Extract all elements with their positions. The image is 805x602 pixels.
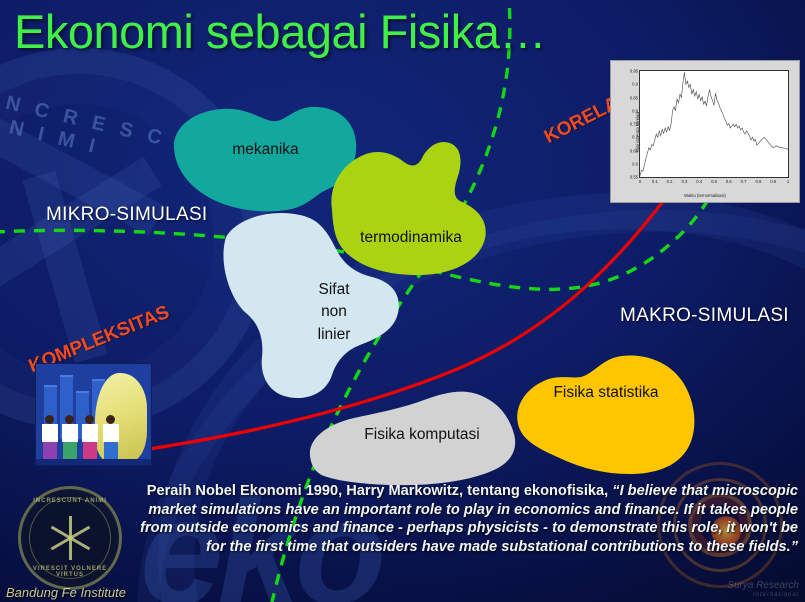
chart-y-tick: 0.95 — [630, 69, 638, 74]
label-mikro-simulasi: MIKRO-SIMULASI — [46, 204, 208, 226]
presentation-slide: INCRESCUNT ANIMI eko Ekonomi sebagai Fis… — [0, 0, 805, 602]
watermark-line2: International — [727, 592, 799, 598]
chart-y-tick: 0.8 — [632, 108, 638, 113]
watermark-line1: Surya Research — [727, 581, 799, 592]
chart-x-tick: 0.8 — [755, 179, 761, 184]
seal-text-bottom: VIRESCIT VOLNERE VIRTUS — [21, 566, 119, 578]
chart-y-tick: 0.7 — [632, 135, 638, 140]
person-figure — [61, 415, 78, 459]
person-figure — [81, 415, 98, 459]
snowflake-icon — [48, 516, 92, 560]
correlation-chart: Nilai rata-rata korelasi 0.550.60.650.70… — [610, 60, 800, 203]
chart-y-tick: 0.9 — [632, 82, 638, 87]
chart-x-tick: 1 — [787, 179, 789, 184]
quote-intro: Peraih Nobel Ekonomi 1990, Harry Markowi… — [147, 483, 613, 499]
seal-text-top: INCRESCUNT ANIMI — [21, 498, 119, 504]
chart-x-tick: 0.2 — [667, 179, 673, 184]
person-figure — [102, 415, 119, 459]
chart-series-line — [640, 71, 788, 177]
chart-x-tick: 0.7 — [741, 179, 747, 184]
blob-sifat-non-linier: Sifat non linier — [224, 203, 404, 403]
footer-credit: Bandung Fe Institute — [6, 585, 126, 600]
blob-fisika-komputasi: Fisika komputasi — [306, 378, 532, 488]
blob-label-fisika-komputasi: Fisika komputasi — [322, 424, 522, 446]
chart-x-tick: 0.4 — [696, 179, 702, 184]
chart-x-tick: 0.9 — [770, 179, 776, 184]
chart-x-tick: 0.1 — [652, 179, 658, 184]
page-title: Ekonomi sebagai Fisika… — [14, 4, 546, 59]
chart-plot-area: 0.550.60.650.70.750.80.850.90.95 00.10.2… — [639, 70, 789, 178]
chart-x-tick: 0.5 — [711, 179, 717, 184]
chart-x-tick: 0.6 — [726, 179, 732, 184]
chart-y-tick: 0.55 — [630, 175, 638, 180]
chart-y-tick: 0.85 — [630, 95, 638, 100]
quote-block: Peraih Nobel Ekonomi 1990, Harry Markowi… — [118, 482, 798, 557]
chart-y-tick: 0.75 — [630, 122, 638, 127]
chart-x-tick: 0 — [639, 179, 641, 184]
chart-y-tick: 0.65 — [630, 148, 638, 153]
chart-y-tick: 0.6 — [632, 161, 638, 166]
watermark-surya-research: Surya Research International — [727, 581, 799, 598]
blob-label-sifat-non-linier: Sifat non linier — [286, 279, 382, 346]
label-makro-simulasi: MAKRO-SIMULASI — [620, 305, 789, 327]
kompleksitas-illustration — [35, 363, 152, 466]
chart-x-tick: 0.3 — [681, 179, 687, 184]
blob-label-fisika-statistika: Fisika statistika — [512, 382, 700, 404]
person-figure — [41, 415, 58, 459]
blob-fisika-statistika: Fisika statistika — [512, 354, 700, 476]
chart-x-axis-label: Waktu (ternormalisasi) — [684, 193, 726, 198]
institute-logo: INCRESCUNT ANIMI VIRESCIT VOLNERE VIRTUS — [18, 486, 122, 590]
emblem-spoke — [0, 157, 162, 308]
